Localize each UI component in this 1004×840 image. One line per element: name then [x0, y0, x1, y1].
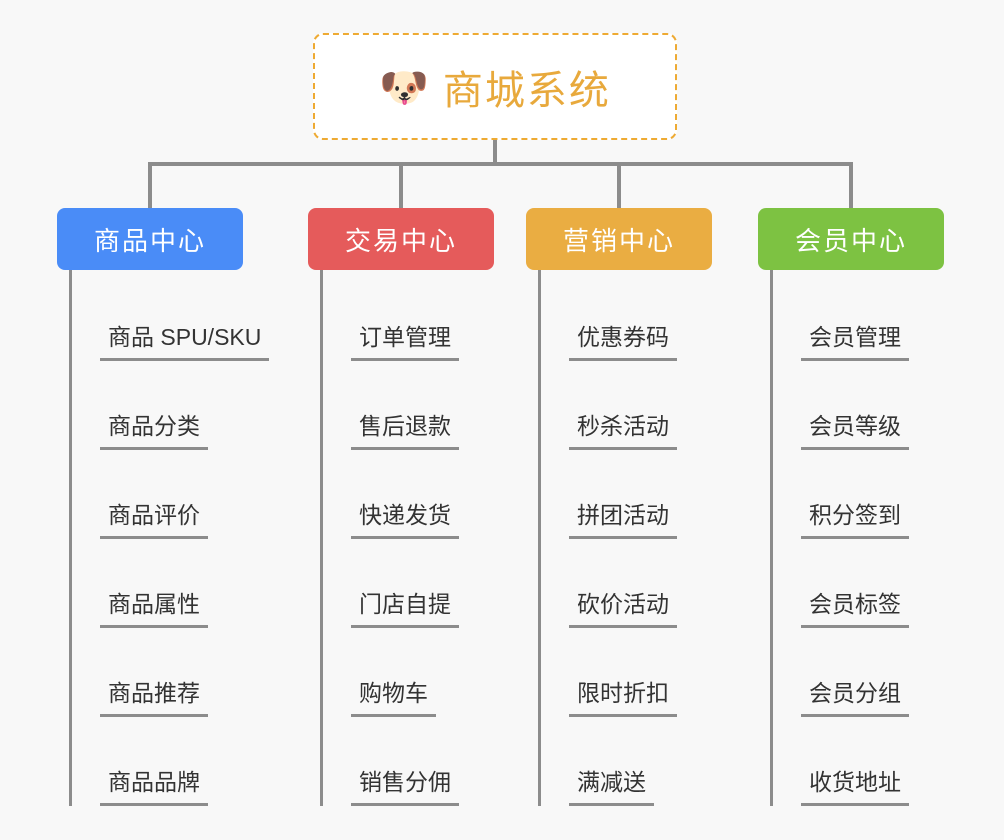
- list-item[interactable]: 砍价活动: [541, 539, 712, 628]
- branch-items-2: 订单管理 售后退款 快递发货 门店自提 购物车 销售分佣: [320, 270, 494, 806]
- connector-drop-2: [399, 162, 403, 208]
- list-item[interactable]: 快递发货: [323, 450, 494, 539]
- list-item[interactable]: 门店自提: [323, 539, 494, 628]
- list-item[interactable]: 收货地址: [773, 717, 944, 806]
- list-item[interactable]: 优惠券码: [541, 272, 712, 361]
- list-item-label: 限时折扣: [569, 678, 677, 717]
- mindmap-canvas: 🐶 商城系统 商品中心 商品 SPU/SKU 商品分类 商品评价 商品属性 商品…: [0, 0, 1004, 840]
- list-item[interactable]: 会员分组: [773, 628, 944, 717]
- root-node[interactable]: 🐶 商城系统: [313, 33, 677, 140]
- connector-drop-1: [148, 162, 152, 208]
- list-item-label: 拼团活动: [569, 500, 677, 539]
- list-item[interactable]: 秒杀活动: [541, 361, 712, 450]
- list-item[interactable]: 会员等级: [773, 361, 944, 450]
- list-item-label: 购物车: [351, 678, 436, 717]
- list-item[interactable]: 商品推荐: [72, 628, 269, 717]
- connector-drop-3: [617, 162, 621, 208]
- list-item[interactable]: 会员标签: [773, 539, 944, 628]
- branch-column-2: 交易中心 订单管理 售后退款 快递发货 门店自提 购物车 销售分佣: [308, 208, 494, 806]
- list-item-label: 积分签到: [801, 500, 909, 539]
- list-item-label: 会员管理: [801, 322, 909, 361]
- branch-items-4: 会员管理 会员等级 积分签到 会员标签 会员分组 收货地址: [770, 270, 944, 806]
- list-item-label: 商品推荐: [100, 678, 208, 717]
- list-item-label: 订单管理: [351, 322, 459, 361]
- branch-column-4: 会员中心 会员管理 会员等级 积分签到 会员标签 会员分组 收货地址: [758, 208, 944, 806]
- list-item[interactable]: 会员管理: [773, 272, 944, 361]
- branch-header-4[interactable]: 会员中心: [758, 208, 944, 270]
- list-item[interactable]: 满减送: [541, 717, 712, 806]
- list-item[interactable]: 商品分类: [72, 361, 269, 450]
- branch-header-1[interactable]: 商品中心: [57, 208, 243, 270]
- list-item-label: 快递发货: [351, 500, 459, 539]
- list-item-label: 商品属性: [100, 589, 208, 628]
- list-item-label: 销售分佣: [351, 767, 459, 806]
- list-item-label: 会员标签: [801, 589, 909, 628]
- list-item[interactable]: 商品评价: [72, 450, 269, 539]
- connector-bus: [148, 162, 853, 166]
- list-item-label: 商品分类: [100, 411, 208, 450]
- list-item[interactable]: 商品属性: [72, 539, 269, 628]
- branch-header-3[interactable]: 营销中心: [526, 208, 712, 270]
- list-item-label: 商品品牌: [100, 767, 208, 806]
- list-item[interactable]: 限时折扣: [541, 628, 712, 717]
- list-item[interactable]: 销售分佣: [323, 717, 494, 806]
- list-item-label: 会员分组: [801, 678, 909, 717]
- list-item-label: 商品评价: [100, 500, 208, 539]
- list-item[interactable]: 订单管理: [323, 272, 494, 361]
- list-item-label: 商品 SPU/SKU: [100, 322, 269, 361]
- dog-face-icon: 🐶: [379, 68, 429, 108]
- branch-column-1: 商品中心 商品 SPU/SKU 商品分类 商品评价 商品属性 商品推荐 商品品牌: [57, 208, 269, 806]
- branch-column-3: 营销中心 优惠券码 秒杀活动 拼团活动 砍价活动 限时折扣 满减送: [526, 208, 712, 806]
- list-item-label: 门店自提: [351, 589, 459, 628]
- root-title: 商城系统: [443, 58, 611, 116]
- list-item[interactable]: 商品品牌: [72, 717, 269, 806]
- list-item-label: 满减送: [569, 767, 654, 806]
- list-item[interactable]: 积分签到: [773, 450, 944, 539]
- branch-items-1: 商品 SPU/SKU 商品分类 商品评价 商品属性 商品推荐 商品品牌: [69, 270, 269, 806]
- connector-drop-4: [849, 162, 853, 208]
- list-item-label: 会员等级: [801, 411, 909, 450]
- list-item-label: 秒杀活动: [569, 411, 677, 450]
- list-item-label: 售后退款: [351, 411, 459, 450]
- list-item[interactable]: 拼团活动: [541, 450, 712, 539]
- list-item[interactable]: 售后退款: [323, 361, 494, 450]
- branch-items-3: 优惠券码 秒杀活动 拼团活动 砍价活动 限时折扣 满减送: [538, 270, 712, 806]
- branch-header-2[interactable]: 交易中心: [308, 208, 494, 270]
- list-item-label: 收货地址: [801, 767, 909, 806]
- list-item[interactable]: 商品 SPU/SKU: [72, 272, 269, 361]
- list-item[interactable]: 购物车: [323, 628, 494, 717]
- list-item-label: 优惠券码: [569, 322, 677, 361]
- list-item-label: 砍价活动: [569, 589, 677, 628]
